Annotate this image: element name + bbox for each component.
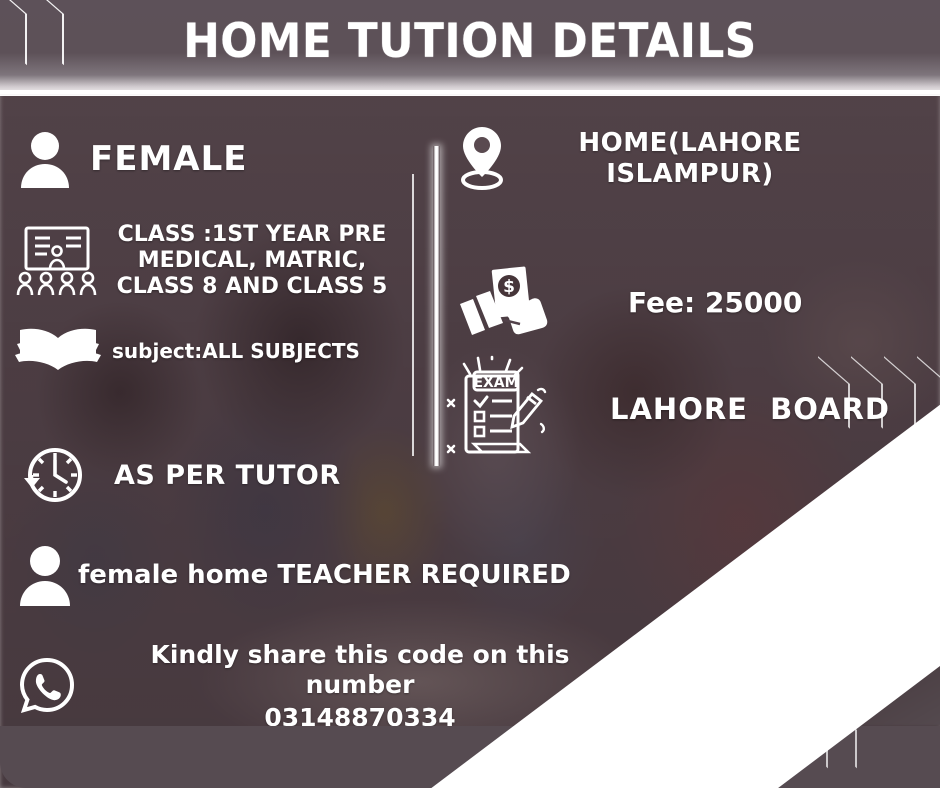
exam-clipboard-icon: EXAM — [442, 354, 560, 464]
gender-label: FEMALE — [90, 139, 248, 179]
svg-text:$: $ — [503, 277, 515, 297]
clock-icon — [18, 444, 86, 508]
detail-row-timing: AS PER TUTOR — [18, 444, 418, 508]
money-in-hand-icon: $ — [452, 260, 556, 346]
detail-row-fee: $ Fee: 25000 — [452, 260, 932, 346]
poster-header: HOME TUTION DETAILS — [0, 0, 940, 96]
person-icon — [18, 130, 72, 188]
requirement-label: female home TEACHER REQUIRED — [78, 560, 571, 591]
column-divider-glow — [433, 146, 440, 466]
detail-row-classes: CLASS :1ST YEAR PRE MEDICAL, MATRIC, CLA… — [14, 222, 424, 300]
whatsapp-icon — [16, 655, 78, 717]
page-title: HOME TUTION DETAILS — [33, 14, 907, 69]
open-book-icon — [14, 326, 102, 378]
person-icon — [16, 544, 74, 606]
home-tuition-poster: HOME TUTION DETAILS FEMALE — [0, 0, 940, 788]
classes-label: CLASS :1ST YEAR PRE MEDICAL, MATRIC, CLA… — [108, 222, 396, 300]
detail-row-subject: subject:ALL SUBJECTS — [14, 326, 424, 378]
column-divider-thin — [412, 174, 414, 456]
classroom-board-icon — [14, 224, 100, 298]
contact-label: Kindly share this code on this number — [150, 640, 569, 699]
svg-text:EXAM: EXAM — [473, 375, 518, 391]
fee-label: Fee: 25000 — [628, 286, 802, 319]
detail-row-requirement: female home TEACHER REQUIRED — [16, 544, 586, 606]
timing-label: AS PER TUTOR — [114, 460, 341, 492]
subject-label: subject:ALL SUBJECTS — [112, 340, 360, 364]
location-label: HOME(LAHORE ISLAMPUR) — [530, 128, 850, 189]
location-pin-icon — [452, 124, 512, 194]
detail-row-location: HOME(LAHORE ISLAMPUR) — [452, 124, 932, 194]
detail-row-gender: FEMALE — [18, 130, 418, 188]
chevron-right-icon — [0, 0, 27, 65]
